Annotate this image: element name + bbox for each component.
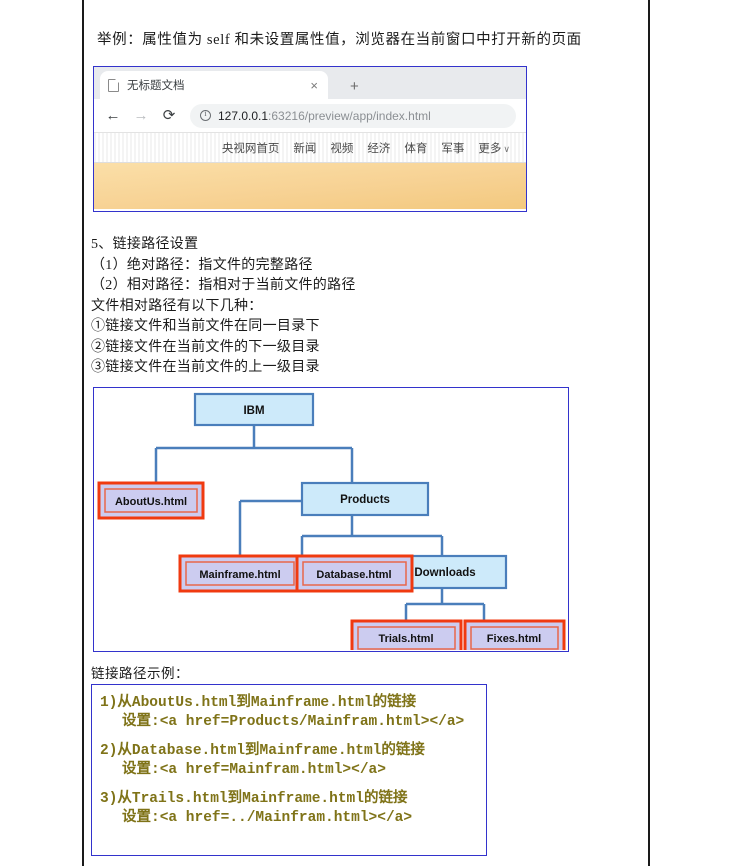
notes-block: 5、链接路径设置 （1）绝对路径：指文件的完整路径 （2）相对路径：指相对于当前…	[91, 235, 521, 379]
notes-line-5: ②链接文件在当前文件的下一级目录	[91, 338, 521, 359]
site-nav-item-2[interactable]: 视频	[330, 140, 353, 156]
code-examples-box: 1)从AboutUs.html到Mainframe.html的链接 设置:<a …	[91, 684, 487, 856]
code-item-2-line1: 3)从Trails.html到Mainframe.html的链接	[100, 790, 478, 809]
svg-text:AboutUs.html: AboutUs.html	[115, 496, 187, 508]
code-item-2: 3)从Trails.html到Mainframe.html的链接 设置:<a h…	[100, 790, 478, 828]
directory-tree-diagram: IBM Products Downloads AboutUs.html Main…	[93, 387, 569, 652]
back-arrow-icon[interactable]: ←	[100, 103, 126, 129]
site-nav-item-4[interactable]: 体育	[404, 140, 427, 156]
site-nav-item-more[interactable]: 更多∨	[478, 140, 510, 156]
code-item-0: 1)从AboutUs.html到Mainframe.html的链接 设置:<a …	[100, 694, 478, 732]
page-hero-banner	[94, 163, 526, 209]
browser-toolbar: ← → ⟳ 127.0.0.1:63216/preview/app/index.…	[94, 99, 526, 133]
browser-mockup: 无标题文档 × + ← → ⟳ 127.0.0.1:63216/preview/…	[93, 66, 527, 212]
page-canvas: 举例：属性值为 self 和未设置属性值，浏览器在当前窗口中打开新的页面 无标题…	[0, 0, 752, 866]
node-ibm: IBM	[195, 394, 313, 425]
node-aboutus: AboutUs.html	[99, 483, 203, 518]
notes-line-4: ①链接文件和当前文件在同一目录下	[91, 317, 521, 338]
code-item-0-line1: 1)从AboutUs.html到Mainframe.html的链接	[100, 694, 478, 713]
code-item-2-line2: 设置:<a href=../Mainfram.html></a>	[100, 809, 478, 828]
node-products: Products	[302, 483, 428, 515]
svg-text:Trials.html: Trials.html	[378, 633, 433, 645]
code-item-1: 2)从Database.html到Mainframe.html的链接 设置:<a…	[100, 742, 478, 780]
svg-text:Downloads: Downloads	[414, 567, 475, 579]
page-border-left	[82, 0, 84, 866]
svg-text:IBM: IBM	[243, 405, 264, 417]
node-fixes: Fixes.html	[465, 621, 564, 650]
page-border-right	[648, 0, 650, 866]
document-icon	[108, 79, 119, 92]
address-bar[interactable]: 127.0.0.1:63216/preview/app/index.html	[190, 104, 516, 128]
browser-tabstrip: 无标题文档 × +	[94, 67, 526, 99]
code-caption: 链接路径示例：	[91, 662, 189, 682]
code-item-0-line2: 设置:<a href=Products/Mainfram.html></a>	[100, 713, 478, 732]
site-nav-item-3[interactable]: 经济	[367, 140, 390, 156]
site-nav-item-1[interactable]: 新闻	[293, 140, 316, 156]
reload-icon[interactable]: ⟳	[156, 103, 182, 129]
info-circle-icon[interactable]	[200, 110, 211, 121]
notes-line-0: 5、链接路径设置	[91, 235, 521, 256]
url-path: :63216/preview/app/index.html	[268, 109, 431, 123]
notes-line-1: （1）绝对路径：指文件的完整路径	[91, 256, 521, 277]
intro-sentence: 举例：属性值为 self 和未设置属性值，浏览器在当前窗口中打开新的页面	[97, 28, 637, 49]
svg-text:Products: Products	[340, 494, 390, 506]
notes-line-6: ③链接文件在当前文件的上一级目录	[91, 358, 521, 379]
notes-line-3: 文件相对路径有以下几种：	[91, 297, 521, 318]
site-nav-item-5[interactable]: 军事	[441, 140, 464, 156]
page-site-nav: 央视网首页 新闻 视频 经济 体育 军事 更多∨	[94, 133, 526, 163]
forward-arrow-icon[interactable]: →	[128, 103, 154, 129]
node-trials: Trials.html	[352, 621, 461, 650]
browser-tab[interactable]: 无标题文档 ×	[100, 71, 328, 99]
node-database: Database.html	[297, 556, 412, 591]
close-icon[interactable]: ×	[308, 79, 320, 92]
svg-text:Database.html: Database.html	[316, 569, 391, 581]
new-tab-icon[interactable]: +	[350, 79, 359, 94]
site-nav-item-0[interactable]: 央视网首页	[222, 140, 280, 156]
chevron-down-icon: ∨	[503, 144, 510, 154]
svg-text:Mainframe.html: Mainframe.html	[199, 569, 280, 581]
notes-line-2: （2）相对路径：指相对于当前文件的路径	[91, 276, 521, 297]
node-mainframe: Mainframe.html	[180, 556, 300, 591]
svg-text:Fixes.html: Fixes.html	[487, 633, 541, 645]
tab-title: 无标题文档	[127, 77, 300, 93]
code-item-1-line1: 2)从Database.html到Mainframe.html的链接	[100, 742, 478, 761]
site-nav-more-label: 更多	[478, 143, 501, 155]
address-bar-url: 127.0.0.1:63216/preview/app/index.html	[218, 109, 431, 123]
code-item-1-line2: 设置:<a href=Mainfram.html></a>	[100, 761, 478, 780]
url-host: 127.0.0.1	[218, 109, 268, 123]
